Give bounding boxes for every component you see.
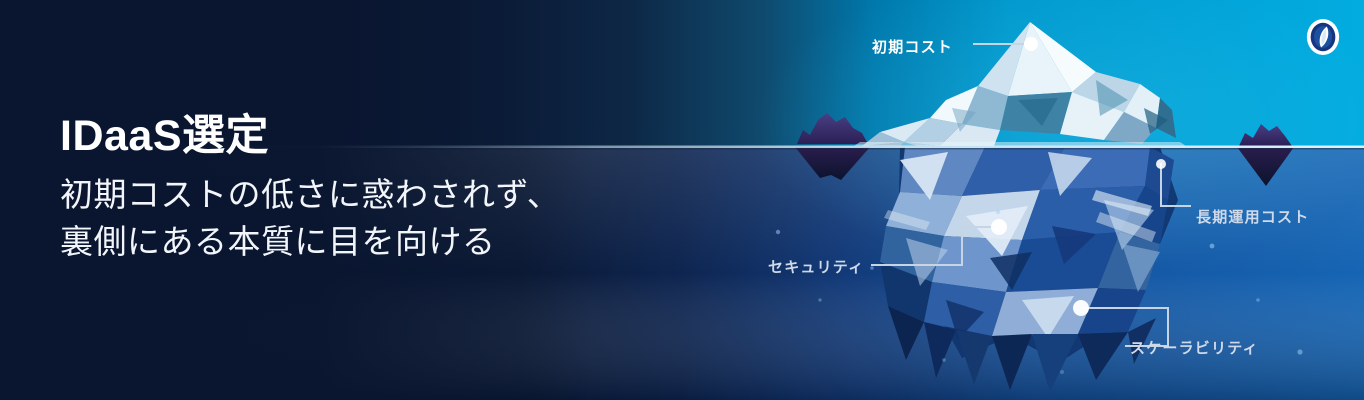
dot-long-term-cost xyxy=(1156,159,1166,169)
distant-iceberg-left xyxy=(797,113,868,144)
callout-label-long-term-cost: 長期運用コスト xyxy=(1196,206,1309,227)
leaf-circle-logo[interactable] xyxy=(1304,18,1342,56)
dot-security xyxy=(991,219,1007,235)
callout-label-security: セキュリティ xyxy=(768,256,864,277)
callout-label-initial-cost: 初期コスト xyxy=(872,36,953,57)
page-title: IDaaS選定 xyxy=(60,112,660,160)
distant-iceberg-right xyxy=(1239,124,1292,146)
hero-banner: IDaaS選定 初期コストの低さに惑わされず、 裏側にある本質に目を向ける 初期… xyxy=(0,0,1364,400)
dot-initial-cost xyxy=(1024,37,1038,51)
subtitle-line-1: 初期コストの低さに惑わされず、 xyxy=(60,172,660,219)
headline-block: IDaaS選定 初期コストの低さに惑わされず、 裏側にある本質に目を向ける xyxy=(60,112,660,266)
callout-label-scalability: スケーラビリティ xyxy=(1130,337,1259,358)
dot-scalability xyxy=(1073,300,1089,316)
subtitle-line-2: 裏側にある本質に目を向ける xyxy=(60,219,660,266)
page-subtitle: 初期コストの低さに惑わされず、 裏側にある本質に目を向ける xyxy=(60,172,660,266)
